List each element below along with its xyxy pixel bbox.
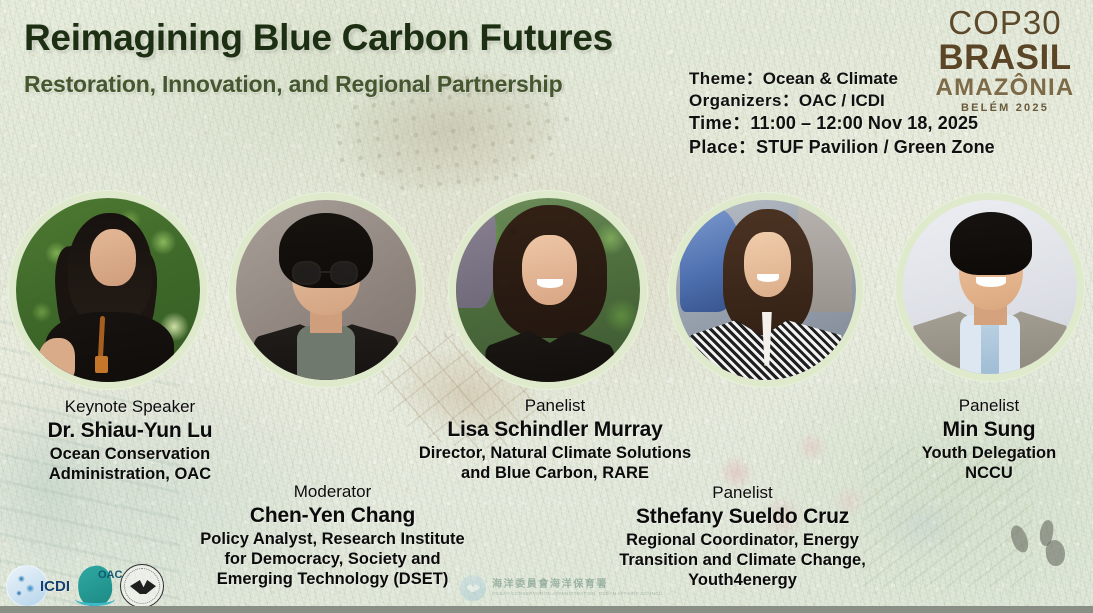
portrait-photo: [456, 198, 640, 382]
cop30-logo-line3: AMAZÔNIA: [931, 76, 1079, 100]
bottom-bar: [0, 606, 1093, 613]
oac-logo-label: OAC: [98, 569, 122, 581]
portrait-photo: [903, 200, 1077, 374]
speaker-role: Panelist: [355, 396, 755, 417]
footer-logo-row: ICDI OAC: [6, 563, 164, 609]
speaker-name: Lisa Schindler Murray: [355, 417, 755, 443]
oca-watermark: 海洋委員會海洋保育署 OCEAN CONSERVATION ADMINISTRA…: [460, 575, 663, 601]
speaker-affiliation-line: for Democracy, Society and: [145, 549, 520, 569]
cop30-logo: COP30 BRASIL AMAZÔNIA BELÉM 2025: [931, 6, 1079, 114]
detail-separator: ：: [738, 137, 756, 157]
speaker-affiliation-line: Director, Natural Climate Solutions: [355, 443, 755, 463]
cop30-logo-line2: BRASIL: [931, 40, 1079, 75]
detail-separator: ：: [746, 69, 763, 88]
speaker-affiliation-line: and Blue Carbon, RARE: [355, 463, 755, 483]
speaker-role: Moderator: [145, 482, 520, 503]
event-poster: Reimagining Blue Carbon Futures Restorat…: [0, 0, 1093, 613]
speaker-caption-shiau-yun-lu: Keynote Speaker Dr. Shiau-Yun Lu Ocean C…: [0, 397, 260, 484]
speaker-affiliation-line: Regional Coordinator, Energy: [575, 530, 910, 550]
organizers-value: OAC / ICDI: [799, 91, 885, 110]
speaker-affiliation-line: Policy Analyst, Research Institute: [145, 529, 520, 549]
whale-tail-badge-icon: [460, 575, 486, 601]
whale-tail-icon: [120, 564, 164, 608]
oac-logo: OAC: [78, 563, 112, 609]
speaker-name: Dr. Shiau-Yun Lu: [0, 418, 260, 444]
detail-place: Place：STUF Pavilion / Green Zone: [689, 136, 995, 159]
speaker-caption-lisa-schindler-murray: Panelist Lisa Schindler Murray Director,…: [355, 396, 755, 483]
organizers-label: Organizers: [689, 91, 782, 110]
icdi-logo-label: ICDI: [40, 578, 70, 595]
page-subtitle: Restoration, Innovation, and Regional Pa…: [24, 71, 562, 98]
cop30-logo-line1: COP30: [931, 6, 1079, 39]
wave-icon: [75, 592, 115, 606]
portrait-photo: [676, 200, 856, 380]
detail-time: Time：11:00 – 12:00 Nov 18, 2025: [689, 112, 995, 135]
whale-emblem-logo: [120, 563, 164, 609]
portrait-photo: [16, 198, 200, 382]
speaker-portrait-min-sung: [895, 192, 1085, 382]
icdi-logo: ICDI: [6, 563, 70, 609]
time-label: Time: [689, 113, 732, 133]
watermark-english-text: OCEAN CONSERVATION ADMINISTRATION, OCEAN…: [492, 591, 663, 597]
speaker-portrait-lisa-schindler-murray: [448, 190, 648, 390]
speaker-name: Min Sung: [885, 417, 1093, 443]
portrait-photo: [236, 200, 416, 380]
speaker-portrait-chen-yen-chang: [228, 192, 424, 388]
speaker-role: Keynote Speaker: [0, 397, 260, 418]
fish-silhouette: [1038, 519, 1055, 547]
speaker-role: Panelist: [575, 483, 910, 504]
speaker-affiliation-line: Youth Delegation: [885, 443, 1093, 463]
watermark-chinese-text: 海洋委員會海洋保育署: [492, 579, 663, 591]
time-value: 11:00 – 12:00 Nov 18, 2025: [750, 113, 978, 133]
theme-value: Ocean & Climate: [763, 69, 898, 88]
fish-silhouette: [1045, 539, 1067, 567]
cop30-logo-line4: BELÉM 2025: [931, 103, 1079, 114]
speaker-caption-min-sung: Panelist Min Sung Youth Delegation NCCU: [885, 396, 1093, 483]
page-title: Reimagining Blue Carbon Futures: [24, 17, 613, 59]
speaker-affiliation-line: NCCU: [885, 463, 1093, 483]
fish-silhouette: [1009, 524, 1030, 555]
speaker-role: Panelist: [885, 396, 1093, 417]
detail-separator: ：: [782, 91, 799, 110]
speaker-portrait-shiau-yun-lu: [8, 190, 208, 390]
place-label: Place: [689, 137, 738, 157]
speaker-name: Sthefany Sueldo Cruz: [575, 504, 910, 530]
theme-label: Theme: [689, 69, 746, 88]
place-value: STUF Pavilion / Green Zone: [756, 137, 995, 157]
speaker-affiliation-line: Ocean Conservation: [0, 444, 260, 464]
detail-separator: ：: [732, 113, 750, 133]
speaker-name: Chen-Yen Chang: [145, 503, 520, 529]
speaker-caption-chen-yen-chang: Moderator Chen-Yen Chang Policy Analyst,…: [145, 482, 520, 590]
speaker-portrait-sthefany-sueldo-cruz: [668, 192, 864, 388]
speaker-affiliation-line: Transition and Climate Change,: [575, 550, 910, 570]
